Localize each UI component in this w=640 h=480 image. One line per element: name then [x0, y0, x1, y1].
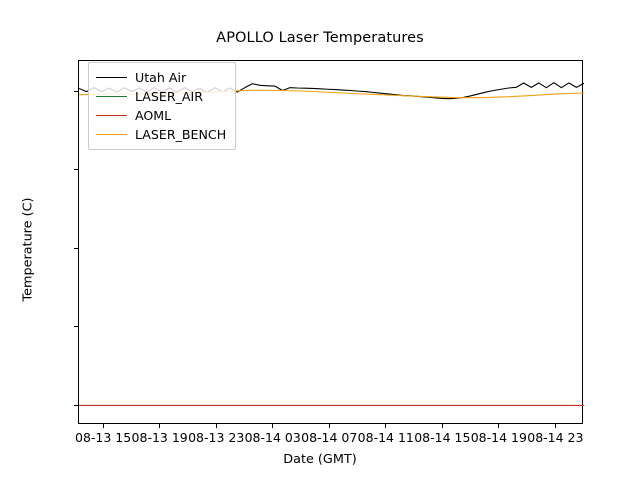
chart-title: APOLLO Laser Temperatures [0, 30, 640, 46]
legend-item: Utah Air [96, 68, 226, 87]
x-tick-label: 08-14 23 [527, 430, 583, 445]
chart-legend: Utah AirLASER_AIRAOMLLASER_BENCH [88, 62, 236, 150]
legend-color-swatch [96, 96, 127, 97]
legend-label: AOML [135, 108, 171, 123]
legend-label: LASER_BENCH [135, 127, 226, 142]
legend-color-swatch [96, 115, 127, 116]
legend-item: LASER_AIR [96, 87, 226, 106]
x-tick-label: 08-14 07 [301, 430, 357, 445]
legend-item: AOML [96, 106, 226, 125]
x-tick-label: 08-14 19 [471, 430, 527, 445]
y-axis-label: Temperature (C) [21, 130, 36, 370]
legend-label: LASER_AIR [135, 89, 203, 104]
legend-color-swatch [96, 134, 127, 135]
legend-item: LASER_BENCH [96, 125, 226, 144]
legend-label: Utah Air [135, 70, 186, 85]
x-tick-label: 08-14 03 [245, 430, 301, 445]
x-tick-label: 08-13 15 [75, 430, 131, 445]
x-axis-label: Date (GMT) [0, 452, 640, 467]
figure-canvas: APOLLO Laser Temperatures Temperature (C… [0, 0, 640, 480]
x-tick-label: 08-13 19 [132, 430, 188, 445]
legend-color-swatch [96, 77, 127, 78]
x-tick-label: 08-14 15 [414, 430, 470, 445]
x-tick-label: 08-14 11 [358, 430, 414, 445]
x-tick-label: 08-13 23 [188, 430, 244, 445]
